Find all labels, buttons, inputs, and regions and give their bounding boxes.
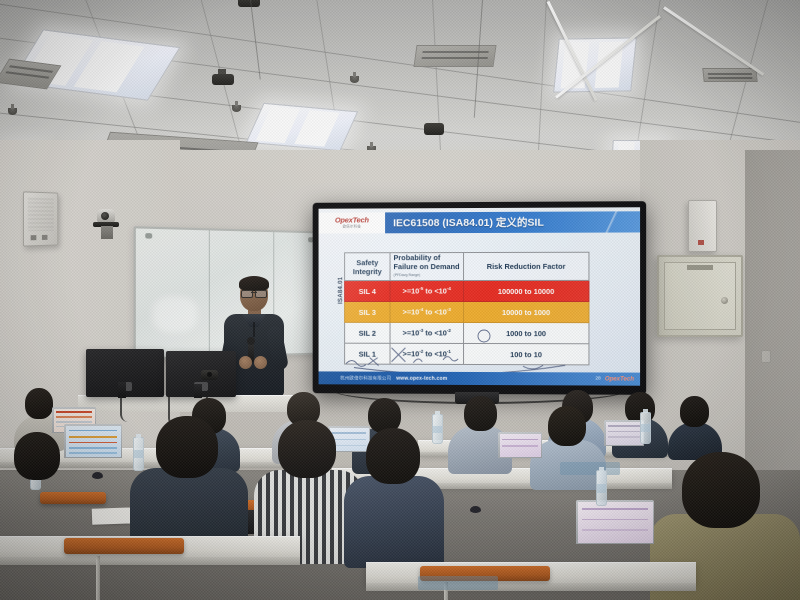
logo-sub-text: 欧倍尔科技 — [343, 224, 361, 229]
wall-outlet-icon — [761, 350, 771, 363]
list-item — [344, 428, 444, 564]
footer-right: 28 OpexTech — [595, 376, 640, 382]
person-head — [680, 396, 709, 427]
presentation-slide: OpexTech 欧倍尔科技 IEC61508 (ISA84.01) 定义的SI… — [319, 207, 641, 385]
ceiling-rail — [663, 6, 764, 76]
wall-mounted-tv: OpexTech 欧倍尔科技 IEC61508 (ISA84.01) 定义的SI… — [313, 201, 647, 395]
mousepad — [560, 462, 620, 475]
usb-webcam-icon — [201, 370, 218, 380]
header-rrf: Risk Reduction Factor — [464, 252, 589, 280]
slide-number: 28 — [595, 376, 600, 381]
laptop-screen — [578, 502, 653, 543]
utility-cabinet — [657, 255, 743, 337]
table-edge — [0, 557, 300, 565]
mouse-icon — [470, 506, 481, 513]
chair — [64, 538, 184, 554]
person-head — [464, 396, 497, 431]
person-head — [25, 388, 53, 419]
cell-rrf: 100 to 10 — [464, 343, 589, 364]
laptop — [576, 500, 654, 544]
cell-sil-level: SIL 4 — [345, 281, 390, 302]
person-head — [156, 416, 218, 478]
laptop — [604, 420, 644, 446]
isa-side-label: ISA84.01 — [337, 277, 344, 304]
header-pfd-sub: (PFDavg Range) — [393, 271, 463, 280]
cell-pfd: >=10-5 to <10-4 — [390, 281, 464, 302]
water-bottle — [640, 412, 651, 444]
ptz-camera-icon — [93, 209, 119, 239]
presenter-placket — [253, 322, 255, 337]
person-torso — [344, 476, 444, 568]
cell-sil-level: SIL 2 — [345, 322, 390, 343]
person-head — [366, 428, 420, 484]
ceiling-speaker-icon — [424, 123, 444, 135]
table-header-row: Safety Integrity Probability of Failure … — [345, 252, 589, 280]
mousepad — [418, 576, 498, 590]
person-head — [14, 432, 60, 480]
hvac-vent — [413, 45, 496, 67]
person-head — [278, 420, 336, 478]
tv-screen: OpexTech 欧倍尔科技 IEC61508 (ISA84.01) 定义的SI… — [319, 207, 641, 385]
logo-main-text: OpexTech — [335, 216, 369, 224]
cell-rrf: 1000 to 100 — [464, 322, 589, 343]
cell-rrf: 10000 to 1000 — [464, 301, 589, 322]
presenter-hand-right — [254, 356, 267, 369]
slide-title: IEC61508 (ISA84.01) 定义的SIL — [385, 214, 640, 230]
footer-url: www.opex-tech.com — [391, 375, 447, 381]
cell-sil-level: SIL 3 — [345, 301, 390, 322]
list-item — [0, 432, 82, 542]
cell-rrf: 100000 to 10000 — [464, 280, 589, 301]
laptop-screen — [500, 434, 541, 457]
footer-company: 杭州欧倍尔科技有限公司 — [319, 375, 392, 381]
table-leg — [96, 556, 100, 600]
cell-pfd: >=10-4 to <10-3 — [390, 301, 464, 322]
person-torso — [0, 472, 82, 544]
list-item — [668, 396, 722, 458]
table-row: SIL 4 >=10-5 to <10-4 100000 to 10000 — [345, 280, 589, 301]
slide-footer: 杭州欧倍尔科技有限公司 www.opex-tech.com 28 OpexTec… — [319, 371, 641, 385]
laptop — [498, 432, 542, 458]
presenter-hair — [239, 276, 269, 291]
laptop-screen — [606, 422, 643, 445]
person-head — [682, 452, 760, 528]
table-row: SIL 3 >=10-4 to <10-3 10000 to 1000 — [345, 301, 589, 322]
ceiling-wire — [250, 0, 261, 79]
hvac-vent — [702, 68, 757, 82]
ceiling-light-panel — [246, 103, 359, 151]
cell-pfd: >=10-2 to <10-1 — [390, 343, 464, 364]
sprinkler-icon — [232, 105, 241, 112]
water-bottle — [596, 470, 607, 506]
sil-table: Safety Integrity Probability of Failure … — [344, 252, 589, 366]
person-head — [548, 406, 586, 446]
cell-pfd: >=10-3 to <10-2 — [390, 322, 464, 343]
table-row: SIL 1 >=10-2 to <10-1 100 to 10 — [345, 343, 589, 365]
far-right-wall — [745, 150, 800, 480]
header-pfd: Probability of Failure on Demand (PFDavg… — [390, 253, 464, 281]
ceiling-camera-icon — [238, 0, 260, 7]
sprinkler-icon — [350, 76, 359, 83]
sprinkler-icon — [8, 108, 17, 115]
opextech-logo: OpexTech 欧倍尔科技 — [319, 216, 386, 229]
header-safety-integrity: Safety Integrity — [345, 253, 390, 281]
ceiling-camera-icon — [212, 74, 234, 85]
slide-title-bar: OpexTech 欧倍尔科技 IEC61508 (ISA84.01) 定义的SI… — [319, 211, 641, 233]
footer-logo: OpexTech — [605, 376, 634, 382]
table-row: SIL 2 >=10-3 to <10-2 1000 to 100 — [345, 322, 589, 343]
header-pfd-label: Probability of Failure on Demand — [393, 253, 459, 271]
cell-sil-level: SIL 1 — [345, 343, 390, 364]
wall-speaker-left — [23, 191, 58, 246]
presenter-glasses — [241, 290, 267, 296]
table-edge — [366, 583, 696, 591]
wall-speaker-right — [688, 200, 717, 252]
classroom-photo: OpexTech 欧倍尔科技 IEC61508 (ISA84.01) 定义的SI… — [0, 0, 800, 600]
presenter-hand-left — [239, 356, 252, 369]
mouse-icon — [92, 472, 103, 479]
